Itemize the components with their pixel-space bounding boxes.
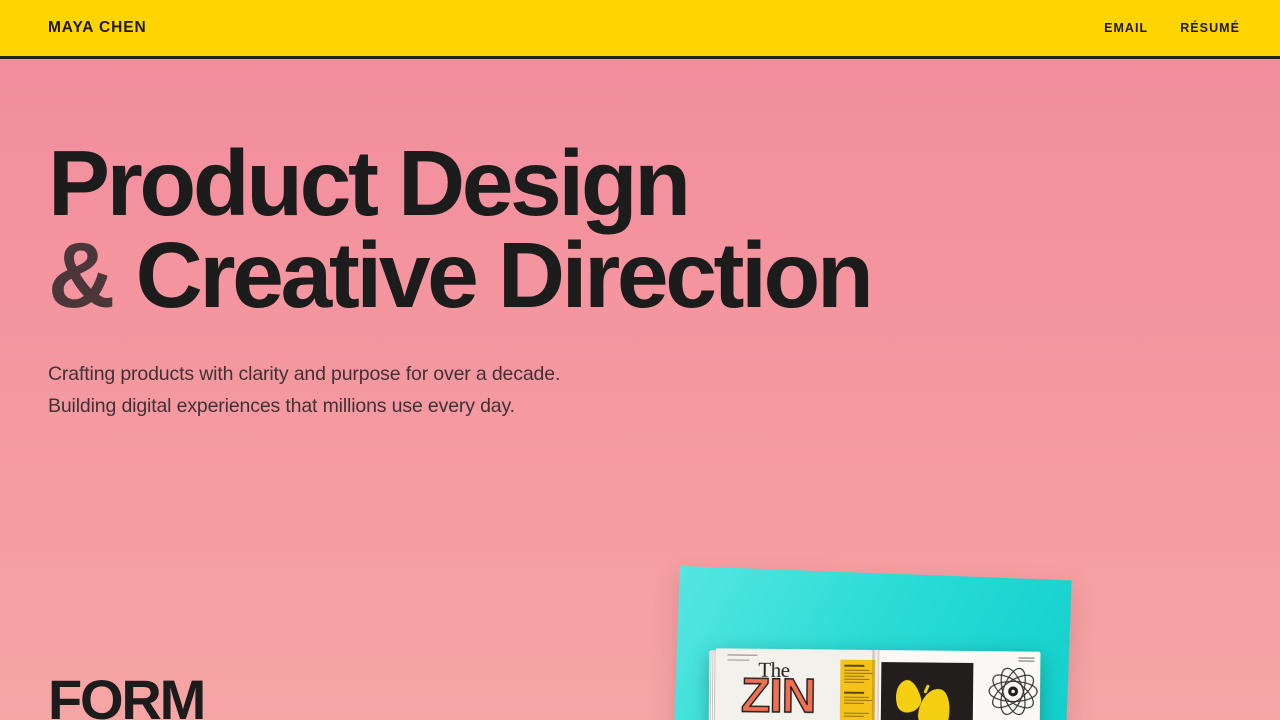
- atom-diagram-icon: [987, 665, 1040, 718]
- magazine-zine-title: ZIN: [741, 673, 816, 720]
- yellow-sidebar-line: [844, 697, 869, 698]
- nav-link-resume[interactable]: RÉSUMÉ: [1180, 21, 1240, 35]
- hero-section: Product Design & Creative Direction Craf…: [0, 59, 1280, 423]
- magazine-spread: The ZIN: [714, 648, 1040, 720]
- magazine-right-page: [874, 650, 1040, 720]
- yellow-pear-shape-b: [916, 687, 953, 720]
- magazine-yellow-sidebar: [839, 660, 875, 720]
- yellow-sidebar-heading: [844, 665, 864, 667]
- yellow-sidebar-line: [844, 700, 872, 701]
- site-header: MAYA CHEN EMAIL RÉSUMÉ: [0, 0, 1280, 59]
- magazine-left-page: The ZIN: [714, 648, 875, 720]
- nav-link-email[interactable]: EMAIL: [1104, 21, 1148, 35]
- yellow-sidebar-line: [844, 703, 864, 704]
- yellow-sidebar-line: [844, 673, 872, 674]
- yellow-sidebar-line: [844, 716, 864, 717]
- magazine-header-rule: [727, 654, 757, 656]
- hero-title-line-1: Product Design: [48, 131, 688, 235]
- magazine-spine: [871, 650, 879, 720]
- yellow-sidebar-line: [844, 676, 864, 677]
- yellow-sidebar-line: [844, 679, 869, 680]
- hero-subtitle-line-1: Crafting products with clarity and purpo…: [48, 359, 1280, 391]
- yellow-sidebar-line: [844, 713, 869, 714]
- magazine-black-photo-panel: [880, 662, 973, 720]
- yellow-sidebar-line: [844, 670, 869, 671]
- magazine-header-rule-2: [727, 659, 749, 660]
- showcase-image[interactable]: The ZIN: [660, 552, 1090, 720]
- page-title: Product Design & Creative Direction: [48, 137, 1280, 321]
- section-heading-form: FORM: [48, 672, 204, 720]
- portfolio-landing-page: MAYA CHEN EMAIL RÉSUMÉ Product Design & …: [0, 0, 1280, 720]
- hero-title-line-2: Creative Direction: [136, 223, 871, 327]
- hero-title-ampersand: &: [48, 223, 113, 327]
- yellow-sidebar-line: [844, 682, 864, 683]
- yellow-sidebar-heading: [844, 692, 864, 694]
- hero-subtitle: Crafting products with clarity and purpo…: [48, 359, 1280, 423]
- hero-subtitle-line-2: Building digital experiences that millio…: [48, 391, 1280, 423]
- brand-logo[interactable]: MAYA CHEN: [48, 19, 147, 37]
- magazine-page-number: [1018, 657, 1034, 662]
- primary-navigation: EMAIL RÉSUMÉ: [1104, 21, 1240, 35]
